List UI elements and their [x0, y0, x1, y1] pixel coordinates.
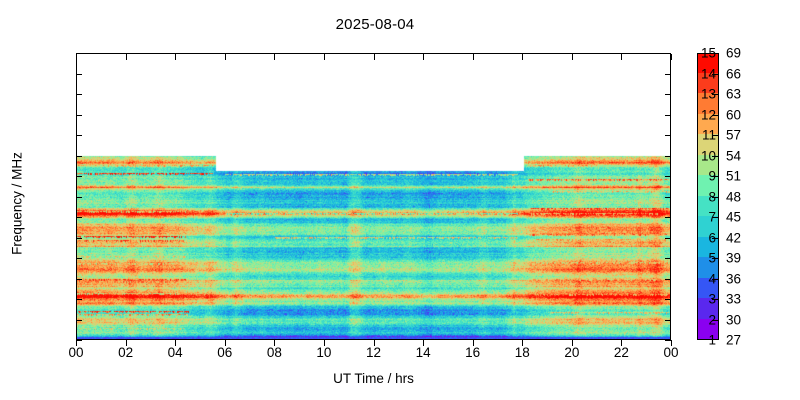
colorbar-tick-mark: [712, 299, 719, 300]
colorbar-tick-label: 51: [726, 169, 741, 184]
x-axis-tick-mark: [76, 340, 77, 346]
y-axis-tick-mark-right: [665, 176, 671, 177]
y-axis-tick-mark: [76, 320, 82, 321]
x-axis-tick-mark-top: [175, 54, 176, 60]
x-axis-tick-mark-top: [473, 54, 474, 60]
y-axis-tick-mark-right: [665, 320, 671, 321]
y-axis-tick-mark: [76, 135, 82, 136]
y-axis-tick-mark-right: [665, 279, 671, 280]
x-axis-tick-mark: [175, 340, 176, 346]
colorbar-tick-label: 27: [726, 333, 741, 348]
x-axis-tick-label: 04: [168, 345, 183, 360]
colorbar-tick-label: 69: [726, 46, 741, 61]
y-axis-tick-mark-right: [665, 197, 671, 198]
colorbar-tick-label: 48: [726, 189, 741, 204]
x-axis-tick-mark-top: [374, 54, 375, 60]
x-axis-tick-mark: [225, 340, 226, 346]
y-axis-tick-label: 15: [701, 46, 716, 61]
x-axis-tick-label: 10: [316, 345, 331, 360]
y-axis-tick-mark-right: [665, 238, 671, 239]
y-axis-tick-mark: [76, 74, 82, 75]
x-axis-tick-label: 06: [217, 345, 232, 360]
x-axis-tick-mark-top: [324, 54, 325, 60]
x-axis-tick-mark: [621, 340, 622, 346]
y-axis-tick-mark: [76, 258, 82, 259]
y-axis-tick-mark: [76, 217, 82, 218]
y-axis-tick-mark: [76, 238, 82, 239]
x-axis-tick-label: 00: [663, 345, 678, 360]
x-axis-tick-label: 08: [267, 345, 282, 360]
x-axis-tick-label: 00: [68, 345, 83, 360]
colorbar-tick-label: 39: [726, 251, 741, 266]
colorbar-tick-mark: [712, 320, 719, 321]
y-axis-tick-mark-right: [665, 217, 671, 218]
x-axis-tick-mark: [671, 340, 672, 346]
colorbar-tick-label: 63: [726, 87, 741, 102]
colorbar-tick-mark: [712, 258, 719, 259]
x-axis-tick-label: 22: [614, 345, 629, 360]
colorbar-tick-label: 36: [726, 271, 741, 286]
colorbar-tick-label: 45: [726, 210, 741, 225]
y-axis-tick-mark: [76, 197, 82, 198]
colorbar-tick-mark: [712, 176, 719, 177]
y-axis-tick-mark: [76, 115, 82, 116]
colorbar-tick-label: 66: [726, 66, 741, 81]
x-axis-tick-mark: [126, 340, 127, 346]
colorbar-tick-label: 30: [726, 312, 741, 327]
x-axis-tick-mark: [374, 340, 375, 346]
x-axis-tick-mark-top: [522, 54, 523, 60]
colorbar-tick-label: 33: [726, 292, 741, 307]
colorbar-axis: [0, 0, 800, 400]
colorbar-tick-mark: [712, 238, 719, 239]
x-axis-tick-mark-top: [572, 54, 573, 60]
x-axis-tick-mark: [423, 340, 424, 346]
spectrogram-figure: 2025-08-04 Frequency / MHz UT Time / hrs…: [0, 0, 800, 400]
colorbar-tick-label: 60: [726, 107, 741, 122]
y-axis-tick-mark: [76, 279, 82, 280]
x-axis-tick-mark-top: [423, 54, 424, 60]
y-axis-tick-mark: [76, 299, 82, 300]
colorbar-tick-mark: [712, 197, 719, 198]
x-axis-tick-mark: [473, 340, 474, 346]
y-axis-tick-label: 1: [708, 333, 716, 348]
x-axis-tick-label: 14: [416, 345, 431, 360]
x-axis-tick-mark: [522, 340, 523, 346]
y-axis-tick-mark-right: [665, 135, 671, 136]
x-axis-tick-mark: [274, 340, 275, 346]
x-axis-tick-mark: [572, 340, 573, 346]
x-axis-tick-label: 20: [564, 345, 579, 360]
y-axis-tick-mark-right: [665, 156, 671, 157]
x-axis-tick-mark-top: [225, 54, 226, 60]
colorbar-tick-mark: [712, 279, 719, 280]
colorbar-tick-mark: [712, 156, 719, 157]
colorbar-tick-mark: [712, 115, 719, 116]
y-axis-tick-mark-right: [665, 74, 671, 75]
colorbar-tick-mark: [712, 217, 719, 218]
colorbar-tick-mark: [712, 74, 719, 75]
x-axis-tick-label: 12: [366, 345, 381, 360]
colorbar-tick-mark: [712, 94, 719, 95]
y-axis-tick-mark-right: [665, 258, 671, 259]
colorbar-tick-label: 57: [726, 128, 741, 143]
x-axis-tick-label: 02: [118, 345, 133, 360]
x-axis-tick-mark-top: [621, 54, 622, 60]
x-axis-tick-label: 16: [465, 345, 480, 360]
y-axis-tick-mark: [76, 94, 82, 95]
colorbar-tick-label: 42: [726, 230, 741, 245]
x-axis-tick-mark-top: [126, 54, 127, 60]
x-axis-tick-mark-top: [671, 54, 672, 60]
colorbar-tick-label: 54: [726, 148, 741, 163]
x-axis-tick-mark-top: [76, 54, 77, 60]
y-axis-tick-mark-right: [665, 94, 671, 95]
y-axis-tick-mark-right: [665, 115, 671, 116]
x-axis-tick-mark-top: [274, 54, 275, 60]
x-axis-tick-mark: [324, 340, 325, 346]
colorbar-tick-mark: [712, 135, 719, 136]
y-axis-tick-mark-right: [665, 299, 671, 300]
y-axis-tick-mark: [76, 176, 82, 177]
y-axis-tick-mark: [76, 156, 82, 157]
x-axis-tick-label: 18: [515, 345, 530, 360]
